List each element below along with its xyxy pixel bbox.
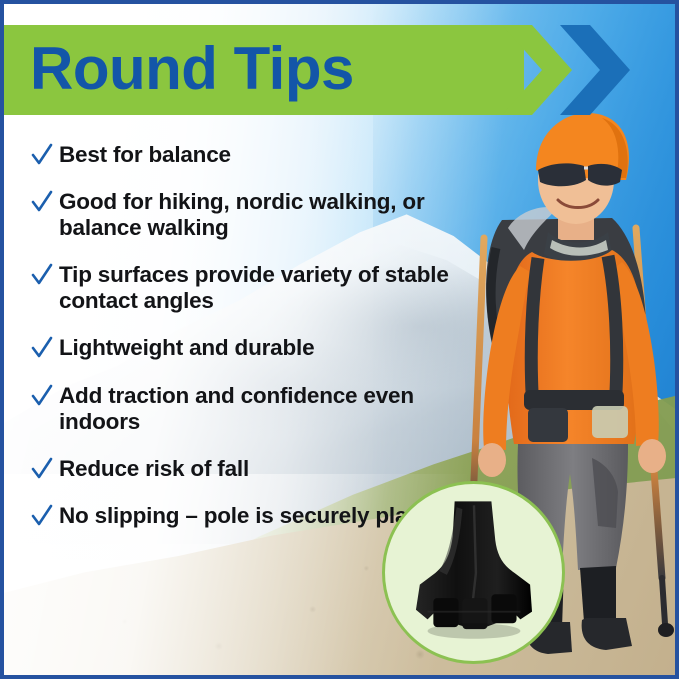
chevron-blue-icon (560, 25, 644, 115)
neck-buff (544, 232, 612, 263)
check-icon (31, 189, 53, 215)
product-infographic: Round Tips Best for balance G (0, 0, 679, 679)
page-title: Round Tips (30, 39, 354, 99)
left-hand (478, 443, 506, 477)
right-hand (638, 439, 666, 473)
check-icon (31, 456, 53, 482)
list-item-label: Reduce risk of fall (59, 456, 249, 482)
list-item: Best for balance (31, 142, 461, 168)
face (538, 136, 614, 224)
product-inset-circle (382, 481, 565, 664)
list-item-label: Tip surfaces provide variety of stable c… (59, 262, 461, 314)
list-item-label: Lightweight and durable (59, 335, 314, 361)
shirt (505, 250, 643, 444)
check-icon (31, 503, 53, 529)
list-item: Lightweight and durable (31, 335, 461, 361)
list-item-label: Good for hiking, nordic walking, or bala… (59, 189, 461, 241)
hip-belt (524, 390, 624, 410)
check-icon (31, 142, 53, 168)
list-item: Reduce risk of fall (31, 456, 461, 482)
beanie (536, 113, 629, 180)
list-item-label: Add traction and confidence even indoors (59, 383, 461, 435)
list-item: Add traction and confidence even indoors (31, 383, 461, 435)
list-item: Tip surfaces provide variety of stable c… (31, 262, 461, 314)
check-icon (31, 383, 53, 409)
list-item-label: Best for balance (59, 142, 231, 168)
rubber-tip-illustration (385, 484, 562, 661)
header-banner: Round Tips (4, 25, 524, 115)
feature-list: Best for balance Good for hiking, nordic… (31, 142, 461, 529)
right-boot (582, 618, 632, 650)
check-icon (31, 262, 53, 288)
sunglasses (538, 163, 622, 186)
right-gaiter (580, 566, 616, 622)
list-item: Good for hiking, nordic walking, or bala… (31, 189, 461, 241)
check-icon (31, 335, 53, 361)
backpack (486, 218, 646, 408)
